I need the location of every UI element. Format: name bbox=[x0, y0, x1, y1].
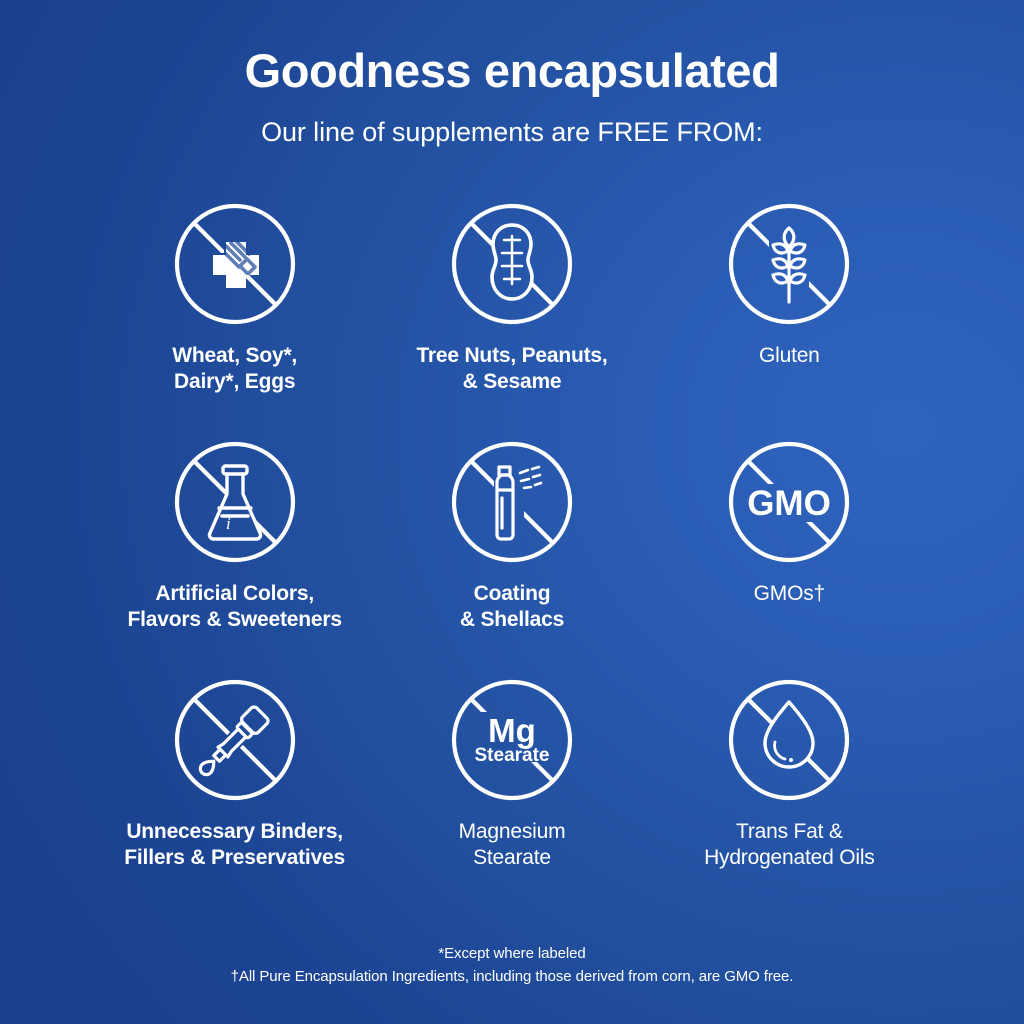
free-from-item-label: Gluten bbox=[759, 343, 820, 369]
no-spray-can-icon bbox=[446, 436, 578, 568]
no-magnesium-stearate-icon: Mg Stearate bbox=[446, 674, 578, 806]
page-subtitle: Our line of supplements are FREE FROM: bbox=[0, 117, 1024, 148]
no-dropper-icon bbox=[169, 674, 301, 806]
no-flask-icon: i bbox=[169, 436, 301, 568]
free-from-item-label: Coating & Shellacs bbox=[460, 581, 564, 632]
page-title: Goodness encapsulated bbox=[0, 46, 1024, 97]
free-from-item: Unnecessary Binders, Fillers & Preservat… bbox=[96, 674, 373, 886]
svg-text:i: i bbox=[226, 514, 231, 533]
footnotes: *Except where labeled †All Pure Encapsul… bbox=[0, 942, 1024, 989]
no-peanut-icon bbox=[446, 198, 578, 330]
free-from-item: Tree Nuts, Peanuts, & Sesame bbox=[373, 198, 650, 410]
free-from-item-label: Tree Nuts, Peanuts, & Sesame bbox=[416, 343, 607, 394]
free-from-item: Gluten bbox=[651, 198, 928, 410]
gmo-icon-text: GMO bbox=[748, 484, 832, 523]
free-from-grid: Wheat, Soy*, Dairy*, Eggs bbox=[96, 198, 928, 886]
footnote-asterisk: *Except where labeled bbox=[0, 942, 1024, 965]
no-wheat-stalk-icon bbox=[723, 198, 855, 330]
free-from-item-label: Trans Fat & Hydrogenated Oils bbox=[704, 819, 875, 870]
free-from-item-label: Magnesium Stearate bbox=[459, 819, 566, 870]
free-from-item: Coating & Shellacs bbox=[373, 436, 650, 648]
free-from-item: Mg Stearate Magnesium Stearate bbox=[373, 674, 650, 886]
mg-icon-text: Mg bbox=[488, 712, 536, 749]
no-oil-droplet-icon bbox=[723, 674, 855, 806]
free-from-item-label: GMOs† bbox=[754, 581, 825, 607]
free-from-item: Wheat, Soy*, Dairy*, Eggs bbox=[96, 198, 373, 410]
free-from-item-label: Wheat, Soy*, Dairy*, Eggs bbox=[172, 343, 297, 394]
free-from-item: GMO GMOs† bbox=[651, 436, 928, 648]
no-gmo-icon: GMO bbox=[723, 436, 855, 568]
free-from-item-label: Artificial Colors, Flavors & Sweeteners bbox=[128, 581, 342, 632]
free-from-item: Trans Fat & Hydrogenated Oils bbox=[651, 674, 928, 886]
free-from-item-label: Unnecessary Binders, Fillers & Preservat… bbox=[124, 819, 345, 870]
header: Goodness encapsulated Our line of supple… bbox=[0, 0, 1024, 148]
free-from-item: i Artificial Colors, Flavors & Sweetener… bbox=[96, 436, 373, 648]
footnote-dagger: †All Pure Encapsulation Ingredients, inc… bbox=[0, 965, 1024, 988]
stearate-icon-text: Stearate bbox=[474, 745, 549, 766]
infographic-page: Goodness encapsulated Our line of supple… bbox=[0, 0, 1024, 1024]
no-allergen-fork-cross-icon bbox=[169, 198, 301, 330]
